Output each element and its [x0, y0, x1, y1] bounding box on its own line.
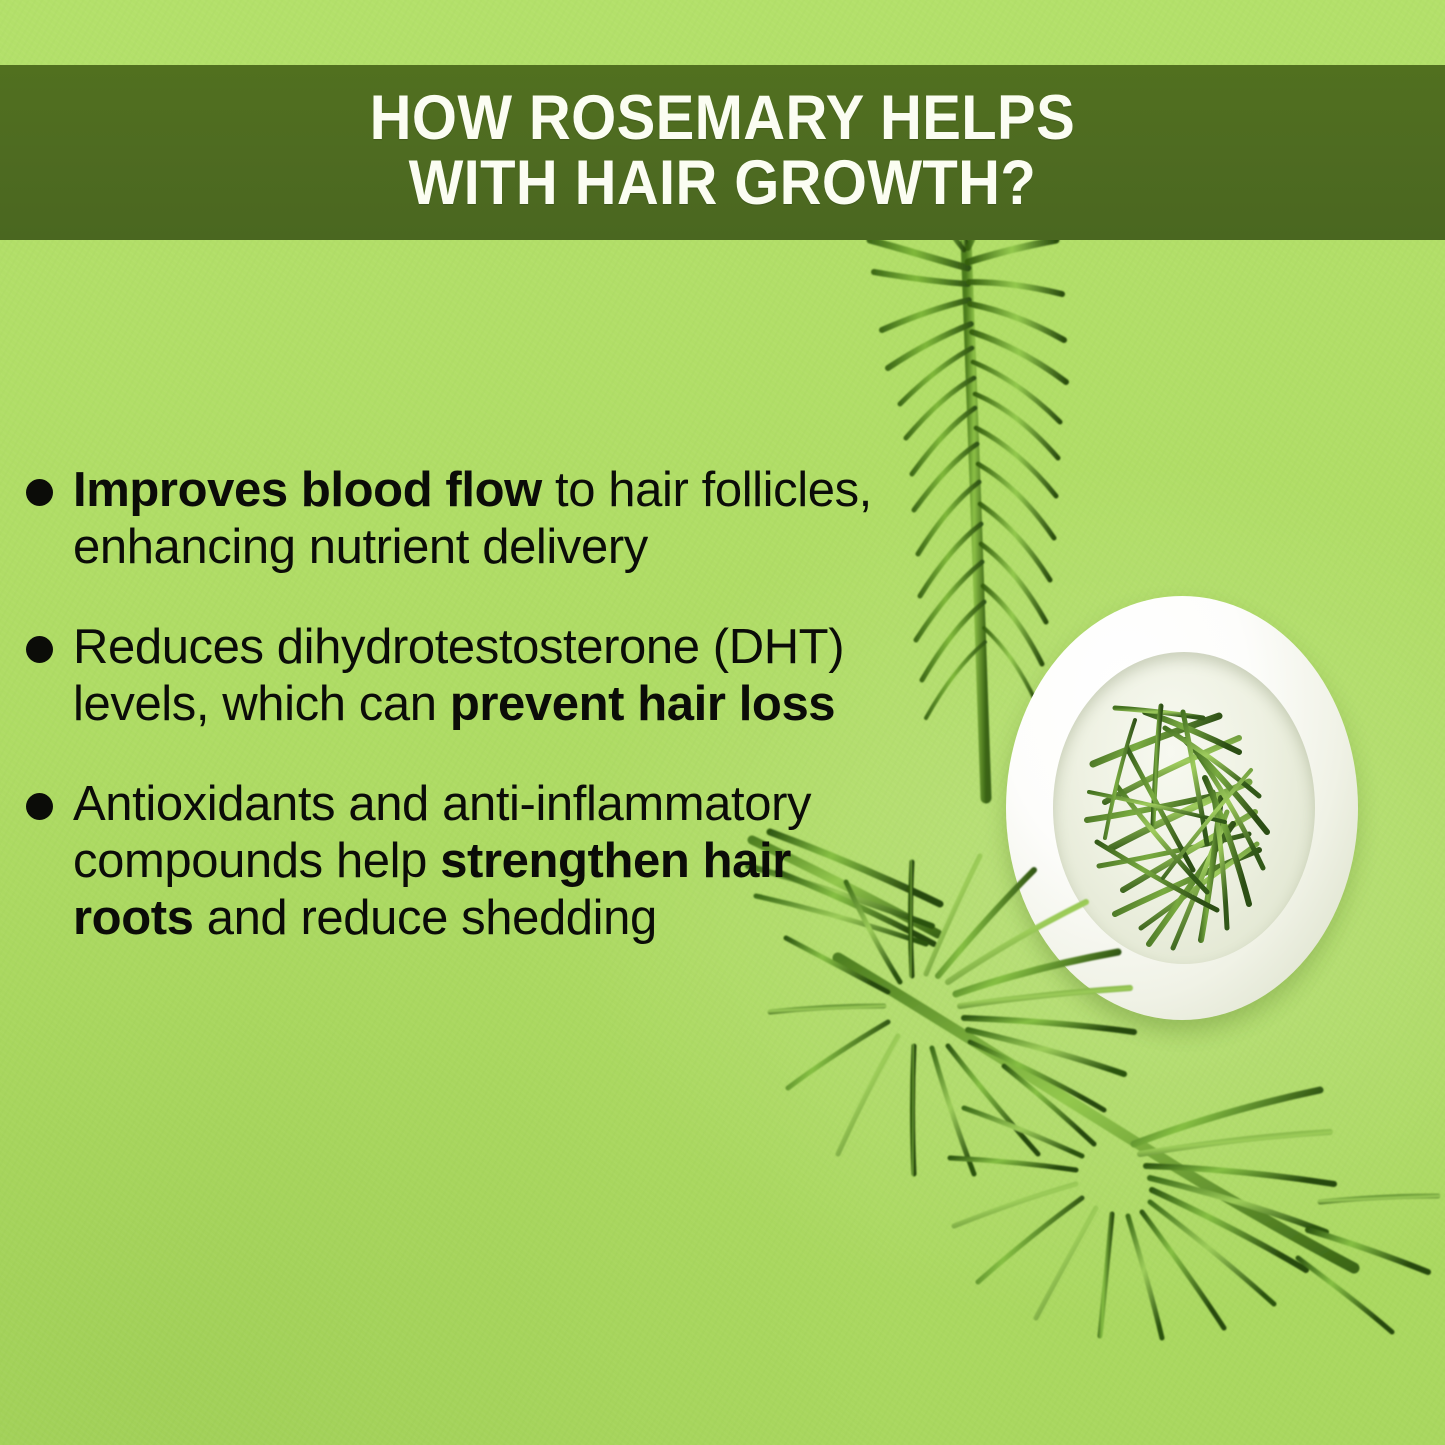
benefit-text-antioxidants: Antioxidants and anti-inflammatory compo…	[73, 776, 916, 946]
benefit-bold-blood-flow: Improves blood flow	[73, 463, 542, 517]
benefit-bold-dht: prevent hair loss	[450, 677, 835, 731]
benefit-post-antioxidants: and reduce shedding	[194, 891, 657, 945]
benefits-list: Improves blood flow to hair follicles, e…	[26, 462, 916, 990]
list-item: Antioxidants and anti-inflammatory compo…	[26, 776, 916, 946]
bullet-point-icon	[26, 479, 53, 506]
list-item: Improves blood flow to hair follicles, e…	[26, 462, 916, 575]
bullet-point-icon	[26, 793, 53, 820]
benefit-text-dht: Reduces dihydrotestosterone (DHT) levels…	[73, 619, 916, 732]
title-banner: HOW ROSEMARY HELPS WITH HAIR GROWTH?	[0, 65, 1445, 240]
benefit-text-blood-flow: Improves blood flow to hair follicles, e…	[73, 462, 916, 575]
list-item: Reduces dihydrotestosterone (DHT) levels…	[26, 619, 916, 732]
bullet-point-icon	[26, 636, 53, 663]
infographic-poster: HOW ROSEMARY HELPS WITH HAIR GROWTH? Imp…	[0, 0, 1445, 1445]
page-title: HOW ROSEMARY HELPS WITH HAIR GROWTH?	[370, 86, 1075, 220]
